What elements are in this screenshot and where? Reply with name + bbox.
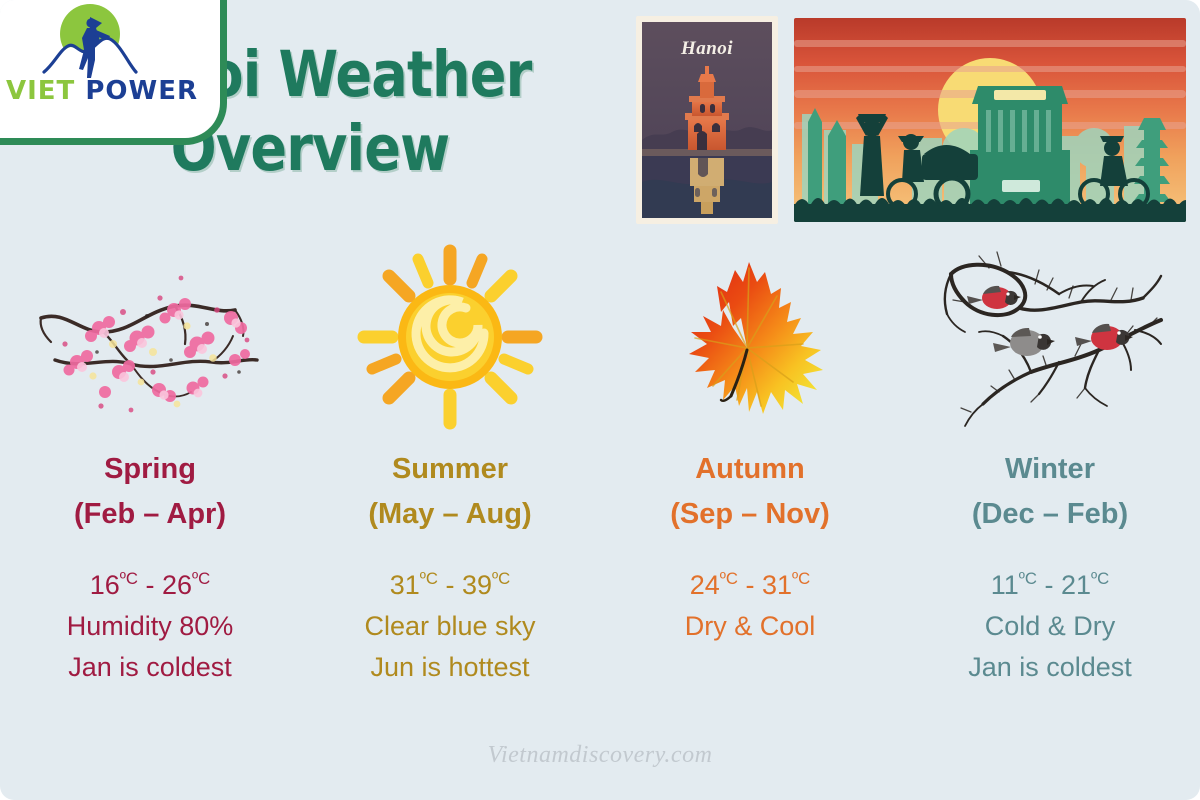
detail-line: Clear blue sky: [364, 606, 535, 647]
sun-icon: [335, 240, 565, 435]
season-months-autumn: (Sep – Nov): [670, 492, 830, 537]
temperature-range-summer: 31ºC - 39ºC: [364, 565, 535, 606]
viet-power-logo[interactable]: VIET POWER: [0, 0, 227, 145]
season-column-spring: Spring (Feb – Apr) 16ºC - 26ºC Humidity …: [0, 240, 300, 688]
infographic-canvas: Hanoi Weather Overview VIET POWER: [0, 0, 1200, 800]
season-column-summer: Summer (May – Aug) 31ºC - 39ºC Clear blu…: [300, 240, 600, 688]
season-name-autumn: Autumn: [695, 447, 805, 492]
maple-leaf-icon: [635, 240, 865, 435]
logo-inner: VIET POWER: [0, 0, 200, 120]
temperature-range-spring: 16ºC - 26ºC: [67, 565, 234, 606]
detail-line: Dry & Cool: [685, 606, 816, 647]
season-months-summer: (May – Aug): [368, 492, 531, 537]
hanoi-skyline-image: [794, 18, 1186, 222]
season-details-summer: 31ºC - 39ºC Clear blue sky Jun is hottes…: [364, 565, 535, 688]
season-details-autumn: 24ºC - 31ºC Dry & Cool: [685, 565, 816, 647]
season-months-spring: (Feb – Apr): [74, 492, 226, 537]
season-name-spring: Spring: [104, 447, 196, 492]
season-details-winter: 11ºC - 21ºC Cold & Dry Jan is coldest: [968, 565, 1132, 688]
season-column-autumn: Autumn (Sep – Nov) 24ºC - 31ºC Dry & Coo…: [600, 240, 900, 688]
detail-line: Jun is hottest: [364, 647, 535, 688]
temperature-range-autumn: 24ºC - 31ºC: [685, 565, 816, 606]
season-columns: Spring (Feb – Apr) 16ºC - 26ºC Humidity …: [0, 240, 1200, 688]
season-name-summer: Summer: [392, 447, 508, 492]
detail-line: Humidity 80%: [67, 606, 234, 647]
season-name-winter: Winter: [1005, 447, 1095, 492]
logo-word-power: POWER: [85, 76, 198, 106]
hanoi-poster-image: Hanoi: [636, 16, 778, 224]
source-watermark: Vietnamdiscovery.com: [0, 742, 1200, 769]
detail-line: Jan is coldest: [968, 647, 1132, 688]
temperature-range-winter: 11ºC - 21ºC: [968, 565, 1132, 606]
hiker-on-mountain-with-sun-logo-icon: [42, 0, 138, 80]
logo-wordmark: VIET POWER: [6, 76, 196, 106]
season-details-spring: 16ºC - 26ºC Humidity 80% Jan is coldest: [67, 565, 234, 688]
detail-line: Jan is coldest: [67, 647, 234, 688]
hanoi-poster-artwork: Hanoi: [642, 22, 772, 218]
logo-word-viet: VIET: [6, 76, 75, 106]
season-months-winter: (Dec – Feb): [972, 492, 1128, 537]
season-column-winter: Winter (Dec – Feb) 11ºC - 21ºC Cold & Dr…: [900, 240, 1200, 688]
detail-line: Cold & Dry: [968, 606, 1132, 647]
winter-branch-with-birds-icon: [935, 240, 1165, 435]
poster-caption: Hanoi: [642, 38, 772, 60]
cherry-blossom-branch-icon: [35, 240, 265, 435]
